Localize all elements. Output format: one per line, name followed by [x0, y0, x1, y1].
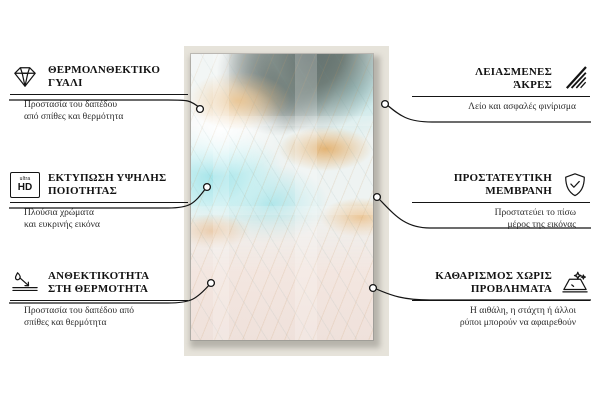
feature-divider [10, 94, 188, 95]
glass-reflection-band-top [191, 116, 373, 126]
infographic-canvas: ΘΕΡΜΟΛΝΘΕΚΤΙΚΟ ΓΥΑΛΙ Προστασία του δαπέδ… [0, 0, 600, 400]
shield-check-icon [560, 172, 590, 198]
glass-reflection-band-mid [191, 206, 373, 215]
feature-description-line2: σπίθες και θερμότητα [10, 318, 188, 330]
feature-description-line2: από σπίθες και θερμότητα [10, 112, 188, 124]
feature-description-line1: Προστασία του δαπέδου [10, 100, 188, 112]
feature-header: ΘΕΡΜΟΛΝΘΕΚΤΙΚΟ ΓΥΑΛΙ [10, 64, 188, 90]
diamond-icon [10, 64, 40, 90]
feature-heat-resistant-glass: ΘΕΡΜΟΛΝΘΕΚΤΙΚΟ ΓΥΑΛΙ Προστασία του δαπέδ… [10, 64, 188, 123]
ultra-hd-icon: ultra HD [10, 172, 40, 198]
feature-title-line1: ΚΑΘΑΡΙΣΜΟΣ ΧΩΡΙΣ [435, 270, 552, 283]
feature-description-line2: ρύποι μπορούν να αφαιρεθούν [412, 318, 590, 330]
feature-title-line1: ΑΝΘΕΚΤΙΚΟΤΗΤΑ [48, 270, 149, 283]
feature-protective-membrane: ΠΡΟΣΤΑΤΕΥΤΙΚΗ ΜΕΜΒΡΑΝΗ Προστατεύει το πί… [412, 172, 590, 231]
feature-title-line2: ΆΚΡΕΣ [475, 79, 552, 92]
feature-heat-durability: ΑΝΘΕΚΤΙΚΟΤΗΤΑ ΣΤΗ ΘΕΡΜΟΤΗΤΑ Προστασία το… [10, 270, 188, 329]
feature-description-line2: μέρος της εικόνας [412, 220, 590, 232]
glass-reflection-band-right [295, 54, 317, 340]
feature-title-line2: ΠΟΙΟΤΗΤΑΣ [48, 185, 166, 198]
feature-divider [10, 300, 188, 301]
feature-title-line2: ΓΥΑΛΙ [48, 77, 160, 90]
diagonal-lines-icon [560, 66, 590, 92]
feature-header: ΑΝΘΕΚΤΙΚΟΤΗΤΑ ΣΤΗ ΘΕΡΜΟΤΗΤΑ [10, 270, 188, 296]
feature-description-line1: Λείο και ασφαλές φινίρισμα [412, 102, 590, 114]
feature-description-line1: Προστασία του δαπέδου από [10, 306, 188, 318]
feature-description-line1: Η αιθάλη, η στάχτη ή άλλοι [412, 306, 590, 318]
feature-divider [412, 96, 590, 97]
glass-reflection-band-left [213, 54, 229, 340]
feature-title-line1: ΠΡΟΣΤΑΤΕΥΤΙΚΗ [454, 172, 552, 185]
feature-title-line1: ΛΕΙΑΣΜΕΝΕΣ [475, 66, 552, 79]
feature-high-quality-print: ultra HD ΕΚΤΥΠΩΣΗ ΥΨΗΛΗΣ ΠΟΙΟΤΗΤΑΣ Πλούσ… [10, 172, 188, 231]
feature-header: ΠΡΟΣΤΑΤΕΥΤΙΚΗ ΜΕΜΒΡΑΝΗ [412, 172, 590, 198]
feature-hassle-free-cleaning: ΚΑΘΑΡΙΣΜΟΣ ΧΩΡΙΣ ΠΡΟΒΛΗΜΑΤΑ Η αιθάλη, η … [412, 270, 590, 329]
product-glass-panel [191, 54, 373, 340]
sparkle-surface-icon [560, 270, 590, 296]
feature-title-line1: ΕΚΤΥΠΩΣΗ ΥΨΗΛΗΣ [48, 172, 166, 185]
feature-title-line2: ΠΡΟΒΛΗΜΑΤΑ [435, 283, 552, 296]
feature-title-line1: ΘΕΡΜΟΛΝΘΕΚΤΙΚΟ [48, 64, 160, 77]
feature-divider [412, 300, 590, 301]
feature-divider [412, 202, 590, 203]
feature-header: ultra HD ΕΚΤΥΠΩΣΗ ΥΨΗΛΗΣ ΠΟΙΟΤΗΤΑΣ [10, 172, 188, 198]
feature-header: ΚΑΘΑΡΙΣΜΟΣ ΧΩΡΙΣ ΠΡΟΒΛΗΜΑΤΑ [412, 270, 590, 296]
feature-description-line1: Προστατεύει το πίσω [412, 208, 590, 220]
feature-title-line2: ΣΤΗ ΘΕΡΜΟΤΗΤΑ [48, 283, 149, 296]
hd-badge-bottom-label: HD [18, 183, 32, 193]
flame-deflect-icon [10, 270, 40, 296]
feature-title-line2: ΜΕΜΒΡΑΝΗ [454, 185, 552, 198]
feature-polished-edges: ΛΕΙΑΣΜΕΝΕΣ ΆΚΡΕΣ Λείο και ασφαλές φινίρι… [412, 66, 590, 114]
feature-divider [10, 202, 188, 203]
feature-description-line2: και ευκρινής εικόνα [10, 220, 188, 232]
feature-description-line1: Πλούσια χρώματα [10, 208, 188, 220]
feature-header: ΛΕΙΑΣΜΕΝΕΣ ΆΚΡΕΣ [412, 66, 590, 92]
